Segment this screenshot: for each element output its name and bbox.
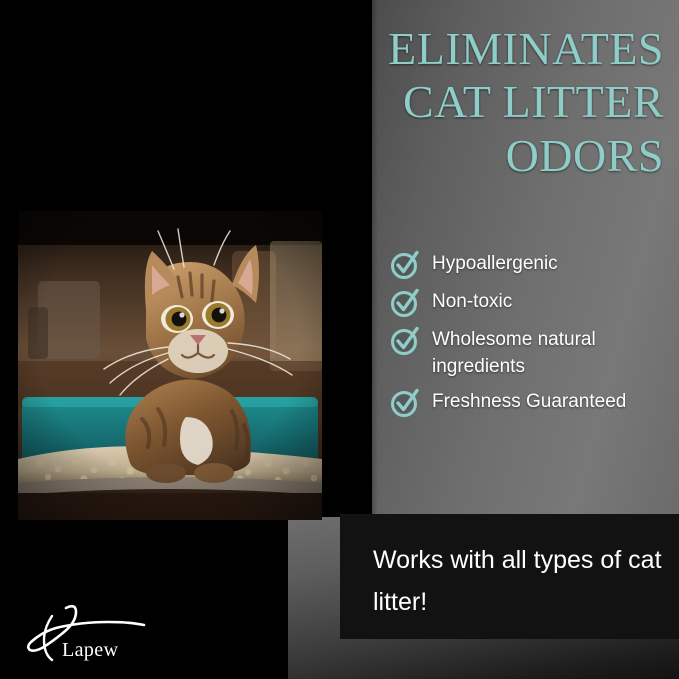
brand-logo: Lapew — [22, 598, 162, 664]
cat-photo — [18, 211, 322, 520]
check-circle-icon — [390, 288, 420, 318]
callout-box: Works with all types of cat litter! — [340, 514, 679, 639]
benefit-label: Hypoallergenic — [432, 250, 558, 277]
benefits-list: Hypoallergenic Non-toxic Wholesome n — [390, 250, 670, 418]
headline: ELIMINATES CAT LITTER ODORS — [300, 22, 664, 182]
brand-name: Lapew — [62, 639, 118, 662]
check-circle-icon — [390, 388, 420, 418]
headline-line-2: CAT LITTER — [300, 75, 664, 128]
benefit-label: Freshness Guaranteed — [432, 388, 626, 415]
benefit-label: Wholesome natural ingredients — [432, 326, 670, 380]
product-ad-image: ELIMINATES CAT LITTER ODORS — [0, 0, 679, 679]
callout-text: Works with all types of cat litter! — [373, 539, 663, 623]
benefit-item: Freshness Guaranteed — [390, 388, 670, 418]
check-circle-icon — [390, 326, 420, 356]
headline-line-3: ODORS — [300, 129, 664, 182]
headline-line-1: ELIMINATES — [300, 22, 664, 75]
benefit-item: Wholesome natural ingredients — [390, 326, 670, 380]
benefit-label: Non-toxic — [432, 288, 512, 315]
benefit-item: Hypoallergenic — [390, 250, 670, 280]
check-circle-icon — [390, 250, 420, 280]
benefit-item: Non-toxic — [390, 288, 670, 318]
